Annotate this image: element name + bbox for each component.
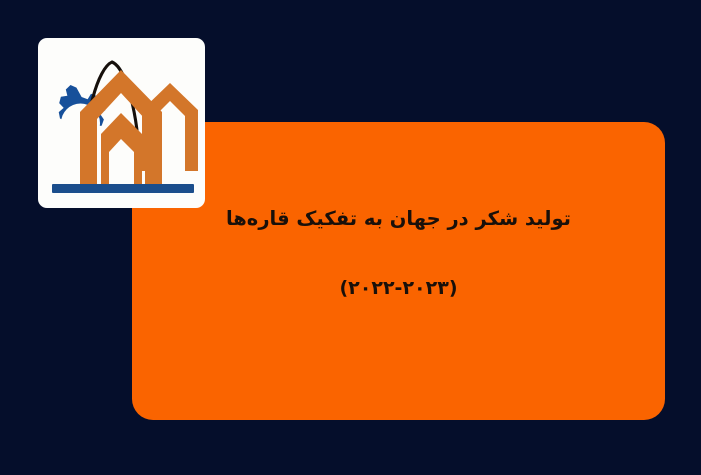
logo-card: [38, 38, 205, 208]
page-subtitle-year-range: (۲۰۲۲-۲۰۲۳): [132, 276, 665, 302]
organization-logo: [38, 38, 205, 208]
blue-base-bar: [52, 184, 194, 193]
slide-canvas: تولید شکر در جهان به تفکیک قاره‌ها (۲۰۲۲…: [0, 0, 701, 475]
content-panel: تولید شکر در جهان به تفکیک قاره‌ها (۲۰۲۲…: [132, 122, 665, 420]
page-title: تولید شکر در جهان به تفکیک قاره‌ها: [132, 206, 665, 232]
panel-text-block: تولید شکر در جهان به تفکیک قاره‌ها (۲۰۲۲…: [132, 206, 665, 302]
